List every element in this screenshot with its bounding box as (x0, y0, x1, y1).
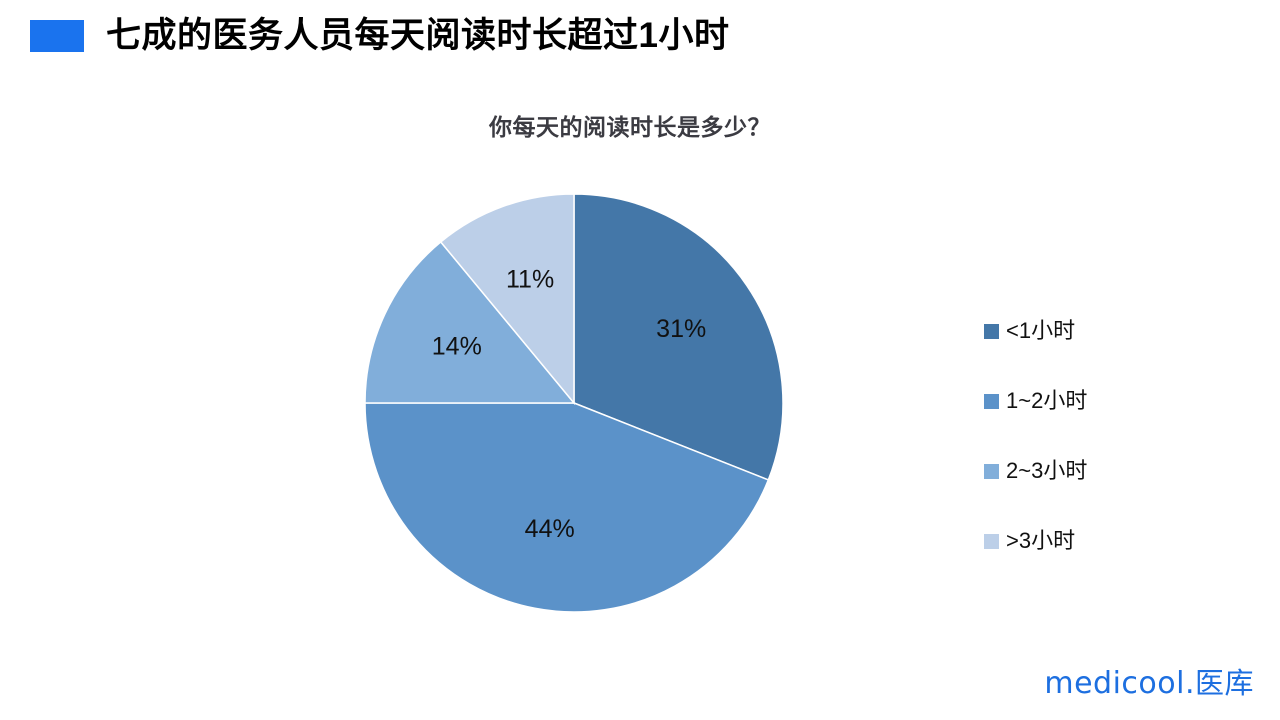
title-bullet-square (30, 20, 84, 52)
legend-swatch-icon (984, 464, 999, 479)
logo-chinese-name: 医库 (1195, 660, 1254, 702)
legend-item-label: >3小时 (1006, 530, 1075, 552)
chart-legend: <1小时1~2小时2~3小时>3小时 (984, 296, 1194, 576)
legend-item-label: 1~2小时 (1006, 390, 1087, 412)
legend-item[interactable]: 1~2小时 (984, 366, 1194, 436)
pie-slice (365, 403, 768, 612)
pie-slice-label: 44% (525, 515, 575, 543)
legend-swatch-icon (984, 534, 999, 549)
legend-swatch-icon (984, 324, 999, 339)
medicool-logo: medicool. 医库 (1044, 660, 1254, 702)
page-title-row: 七成的医务人员每天阅读时长超过1小时 (30, 18, 729, 53)
legend-swatch-icon (984, 394, 999, 409)
chart-subtitle: 你每天的阅读时长是多少？ (0, 108, 1280, 142)
legend-item-label: <1小时 (1006, 320, 1075, 342)
legend-item-label: 2~3小时 (1006, 460, 1087, 482)
pie-slice (365, 242, 574, 403)
pie-slice-label: 11% (506, 266, 554, 294)
legend-item[interactable]: >3小时 (984, 506, 1194, 576)
logo-wordmark: medicool. (1044, 666, 1195, 701)
pie-slice (574, 194, 783, 480)
pie-slice-label: 14% (432, 332, 482, 360)
legend-item[interactable]: 2~3小时 (984, 436, 1194, 506)
pie-slice-label: 31% (656, 315, 706, 343)
legend-item[interactable]: <1小时 (984, 296, 1194, 366)
chart-subtitle-text: 你每天的阅读时长是多少？ (489, 108, 771, 142)
page-title: 七成的医务人员每天阅读时长超过1小时 (106, 18, 729, 53)
pie-slice (441, 194, 574, 403)
